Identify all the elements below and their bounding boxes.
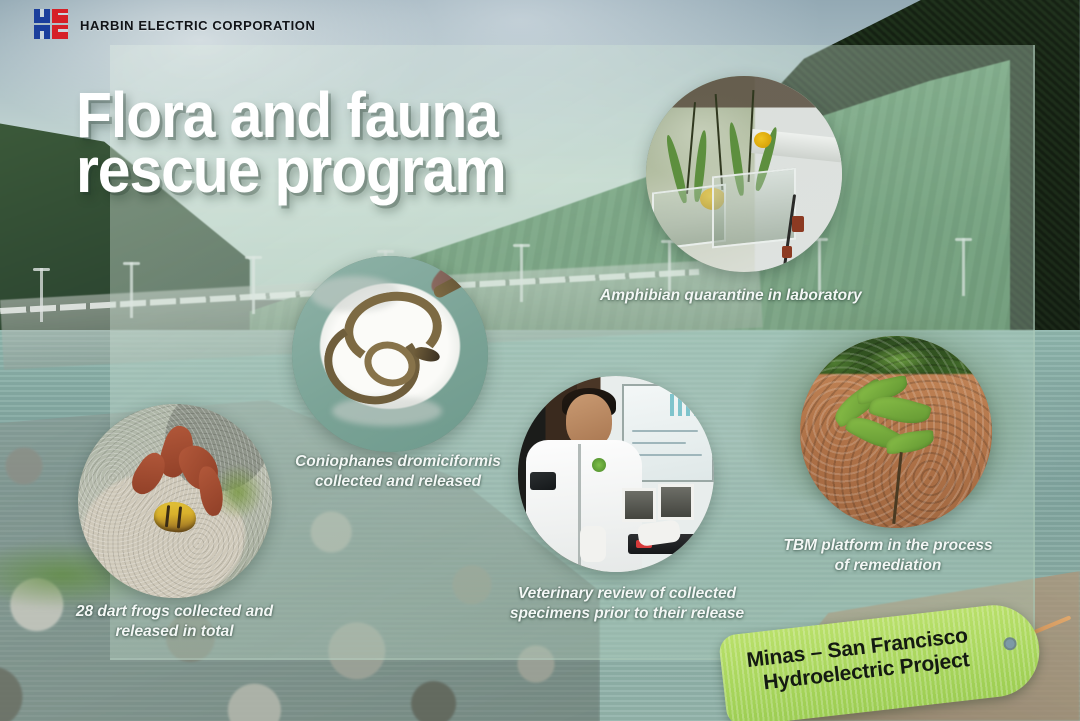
poster-canvas: HARBIN ELECTRIC CORPORATION Flora and fa… bbox=[0, 0, 1080, 721]
brand-name: HARBIN ELECTRIC CORPORATION bbox=[80, 18, 316, 33]
title-line-2: rescue program bbox=[76, 143, 591, 198]
hec-logo-icon bbox=[34, 9, 68, 39]
power-plug bbox=[792, 216, 804, 232]
photo-snake-specimen-image bbox=[292, 256, 488, 452]
photo-veterinary-review bbox=[518, 376, 714, 572]
caption-snake-specimen: Coniophanes dromiciformis collected and … bbox=[278, 452, 518, 492]
caption-plant-line-1: TBM platform in the process bbox=[783, 537, 992, 554]
specimen-bin bbox=[658, 484, 694, 520]
photo-dart-frog bbox=[78, 404, 272, 598]
shoulder-badge bbox=[530, 472, 556, 490]
caption-frogs-line-2: released in total bbox=[115, 623, 233, 640]
caption-frogs-line-1: 28 dart frogs collected and bbox=[76, 603, 273, 620]
caption-plant-line-2: of remediation bbox=[835, 557, 942, 574]
photo-snake-specimen bbox=[292, 256, 488, 452]
caption-veterinary-review: Veterinary review of collected specimens… bbox=[492, 584, 762, 624]
caption-amphibian-quarantine: Amphibian quarantine in laboratory bbox=[600, 286, 900, 306]
photo-dart-frog-image bbox=[78, 404, 272, 598]
whiteboard-writing bbox=[632, 442, 686, 444]
photo-amphibian-quarantine bbox=[646, 76, 842, 272]
terrarium-tank bbox=[712, 168, 796, 249]
orchid-bloom bbox=[754, 132, 772, 148]
gloved-hand bbox=[580, 526, 606, 562]
logo-cell-top-left bbox=[34, 9, 50, 23]
photo-tbm-platform-seedling-image bbox=[800, 336, 992, 528]
whiteboard-chart bbox=[670, 394, 704, 416]
logo-cell-bottom-right bbox=[52, 25, 68, 39]
caption-snake-line-2: collected and released bbox=[315, 473, 481, 490]
caption-snake-line-1: Coniophanes dromiciformis bbox=[295, 453, 501, 470]
coat-logo bbox=[592, 458, 606, 472]
logo-cell-bottom-left bbox=[34, 25, 50, 39]
header-bar: HARBIN ELECTRIC CORPORATION bbox=[0, 0, 1080, 46]
light-pole-icon bbox=[40, 268, 43, 322]
photo-veterinary-review-image bbox=[518, 376, 714, 572]
caption-vet-line-1: Veterinary review of collected bbox=[518, 585, 736, 602]
caption-tbm-platform: TBM platform in the process of remediati… bbox=[762, 536, 1014, 576]
power-plug bbox=[782, 246, 792, 258]
whiteboard-writing bbox=[632, 454, 702, 456]
caption-vet-line-2: specimens prior to their release bbox=[510, 605, 744, 622]
whiteboard-writing bbox=[632, 430, 698, 432]
logo-cell-top-right bbox=[52, 9, 68, 23]
photo-amphibian-quarantine-image bbox=[646, 76, 842, 272]
page-title: Flora and fauna rescue program bbox=[76, 88, 591, 198]
caption-dart-frog: 28 dart frogs collected and released in … bbox=[52, 602, 297, 642]
specimen-bin bbox=[622, 488, 656, 522]
photo-tbm-platform-seedling bbox=[800, 336, 992, 528]
